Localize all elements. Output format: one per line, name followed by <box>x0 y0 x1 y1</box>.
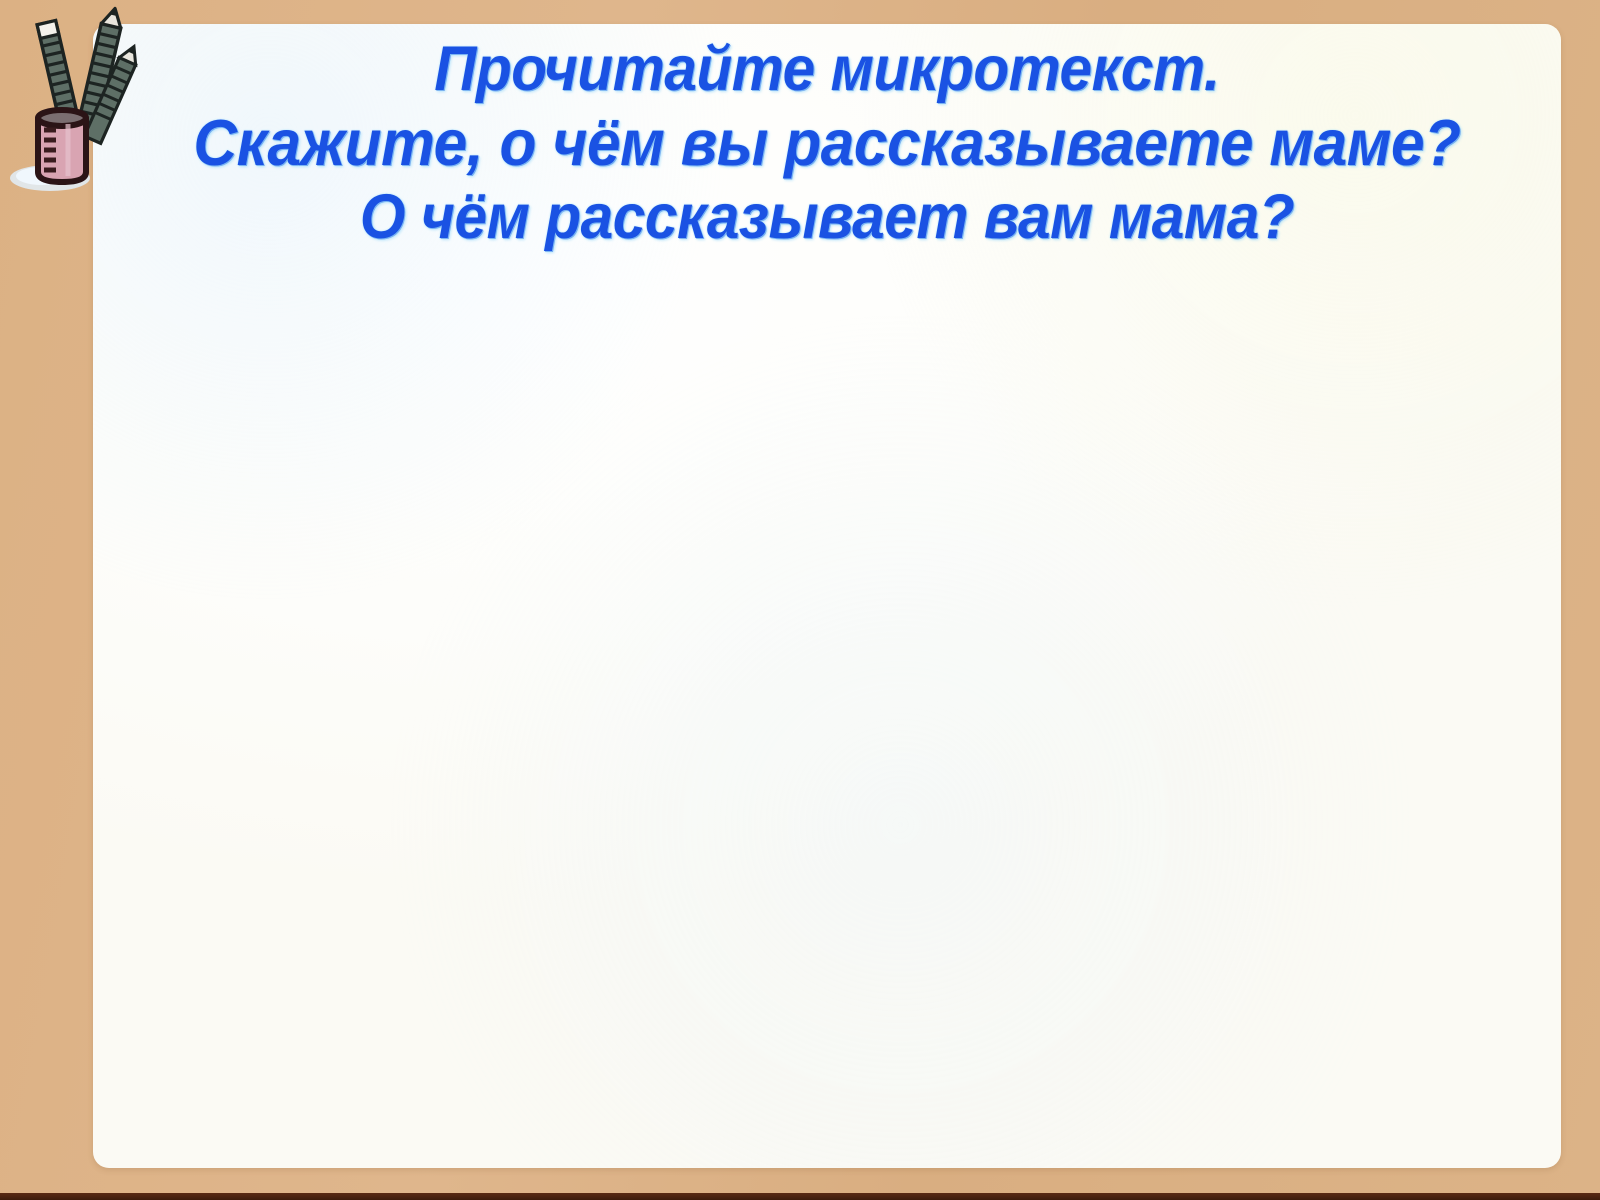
bottom-edge-strip <box>0 1193 1600 1200</box>
headline-line-3: О чём рассказывает вам мама? <box>144 180 1509 254</box>
headline-block: Прочитайте микротекст. Скажите, о чём вы… <box>93 32 1561 254</box>
headline-line-1: Прочитайте микротекст. <box>144 32 1509 106</box>
pencil-cup-icon <box>6 2 146 202</box>
slide-canvas: Прочитайте микротекст. Скажите, о чём вы… <box>0 0 1600 1200</box>
headline-line-2: Скажите, о чём вы рассказываете маме? <box>144 106 1509 180</box>
